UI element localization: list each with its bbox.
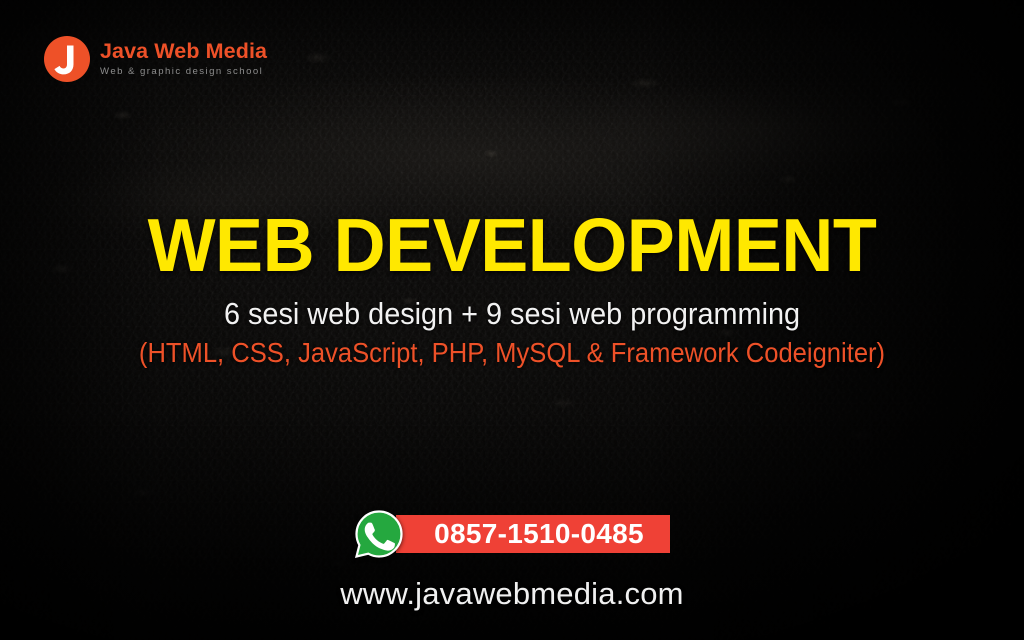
brand-logo[interactable]: Java Web Media Web & graphic design scho…	[44, 36, 267, 82]
headline-block: WEB DEVELOPMENT 6 sesi web design + 9 se…	[0, 208, 1024, 369]
java-web-media-j-monogram-icon	[44, 36, 90, 82]
page-title: WEB DEVELOPMENT	[20, 208, 1003, 283]
promo-banner: Java Web Media Web & graphic design scho…	[0, 0, 1024, 640]
whatsapp-contact-row[interactable]: 0857-1510-0485	[354, 508, 670, 560]
brand-wordmark: Java Web Media Web & graphic design scho…	[100, 40, 267, 77]
phone-number[interactable]: 0857-1510-0485	[396, 515, 670, 553]
course-subtitle: 6 sesi web design + 9 sesi web programmi…	[36, 297, 988, 332]
website-url[interactable]: www.javawebmedia.com	[0, 577, 1024, 611]
contact-block: 0857-1510-0485 www.javawebmedia.com	[0, 508, 1024, 611]
technology-list: (HTML, CSS, JavaScript, PHP, MySQL & Fra…	[36, 338, 988, 369]
brand-name: Java Web Media	[100, 40, 267, 63]
brand-tagline: Web & graphic design school	[100, 66, 267, 78]
whatsapp-icon[interactable]	[354, 509, 404, 559]
